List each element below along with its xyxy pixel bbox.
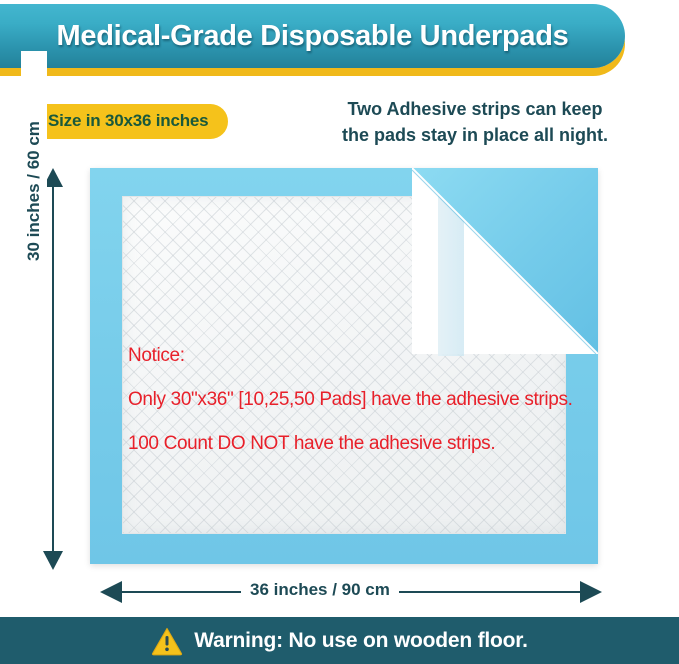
adhesive-description-line-2: the pads stay in place all night. (290, 122, 660, 148)
notice-block: Notice: Only 30"x36" [10,25,50 Pads] hav… (128, 334, 673, 466)
notice-line-adhesive-sizes: Only 30"x36" [10,25,50 Pads] have the ad… (128, 378, 673, 422)
notice-line-100-count: 100 Count DO NOT have the adhesive strip… (128, 422, 673, 466)
warning-triangle-icon (151, 626, 183, 656)
adhesive-description-line-1: Two Adhesive strips can keep (290, 96, 660, 122)
adhesive-strip (438, 196, 464, 356)
warning-bar: Warning: No use on wooden floor. (0, 617, 679, 664)
vertical-dimension-label: 30 inches / 60 cm (21, 51, 47, 331)
warning-text: Warning: No use on wooden floor. (194, 629, 527, 653)
notice-heading: Notice: (128, 334, 673, 378)
page-title: Medical-Grade Disposable Underpads (0, 4, 625, 68)
horizontal-dimension-label: 36 inches / 90 cm (241, 580, 399, 600)
size-badge: Size in 30x36 inches (28, 104, 228, 139)
adhesive-description: Two Adhesive strips can keep the pads st… (290, 96, 660, 148)
